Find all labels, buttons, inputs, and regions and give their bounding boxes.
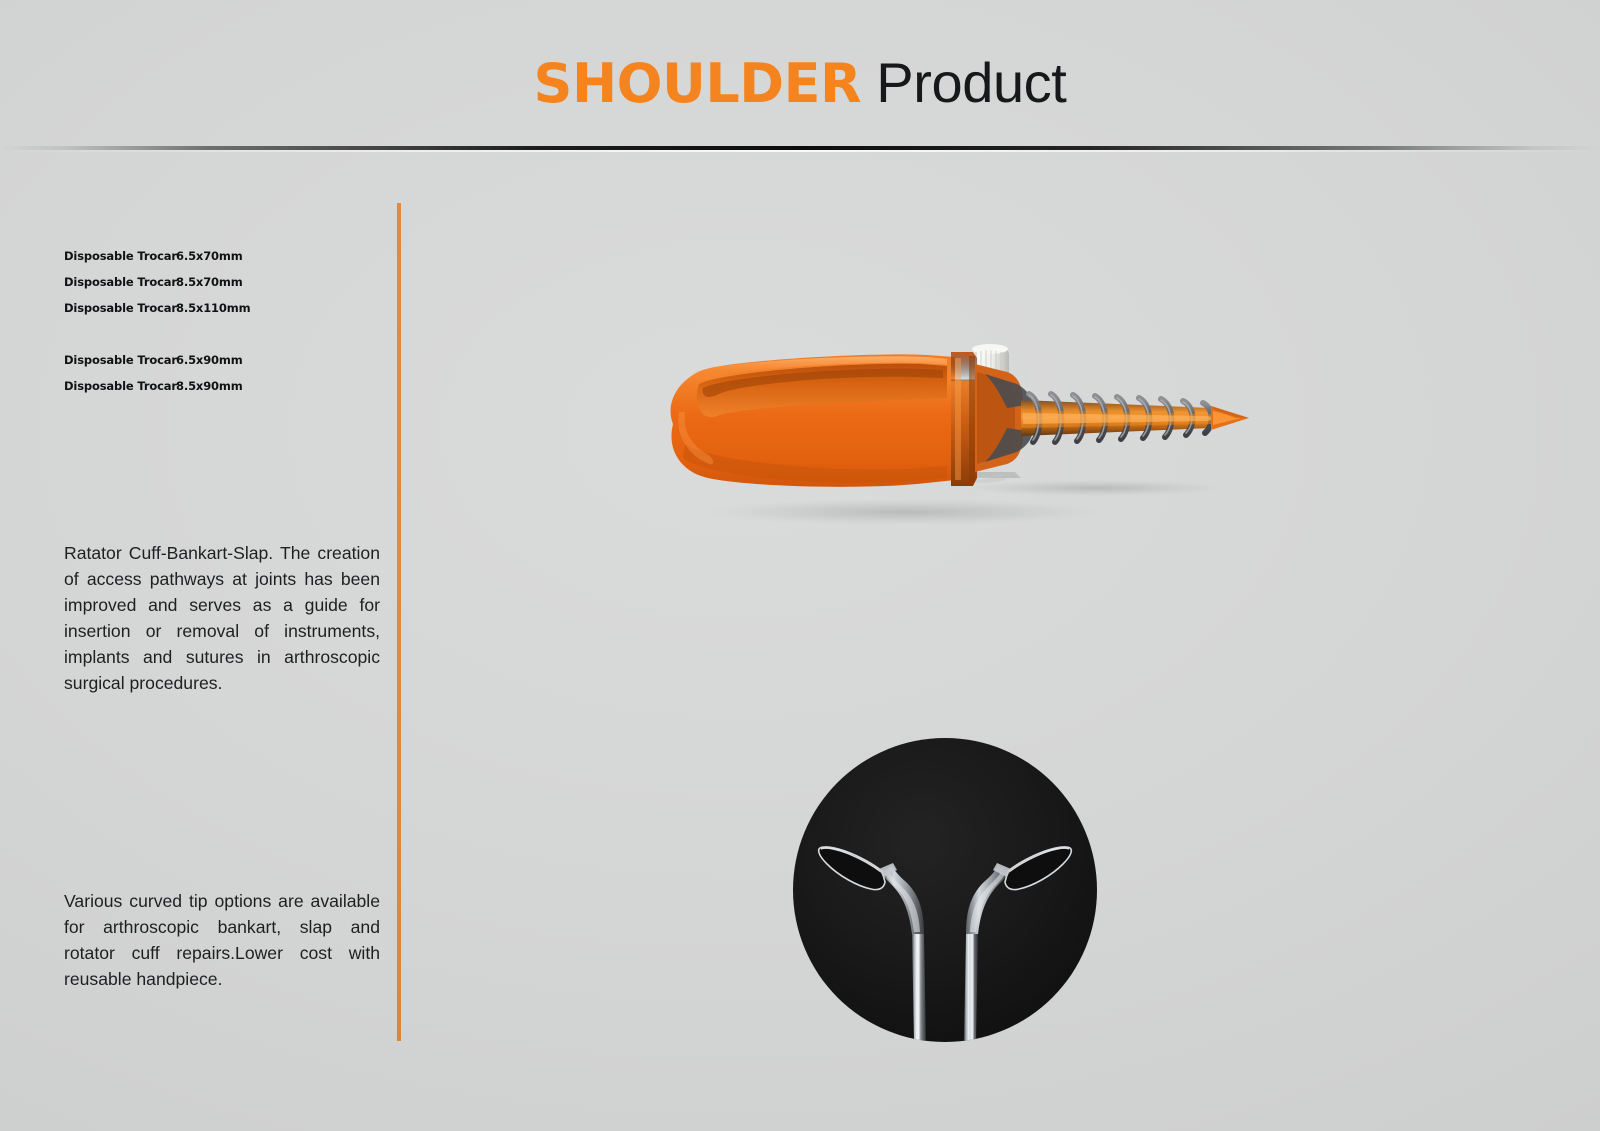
product-page: SHOULDER Product Disposable Trocar 6.5x7… [0,0,1600,1131]
spec-row: Disposable Trocar 8.5x110mm [64,301,374,327]
spec-row: Disposable Trocar 6.5x70mm [64,249,374,275]
page-title: SHOULDER Product [0,55,1600,111]
spec-group-2: Disposable Trocar 6.5x90mm Disposable Tr… [64,353,374,405]
description-paragraph-one: Ratator Cuff-Bankart-Slap. The creation … [64,540,380,696]
disposable-trocar-photo [655,312,1255,527]
spec-product-size: 6.5x70mm [176,249,243,263]
spec-row: Disposable Trocar 6.5x90mm [64,353,374,379]
spec-row: Disposable Trocar 8.5x90mm [64,379,374,405]
spec-product-size: 8.5x110mm [176,301,250,315]
spec-row: Disposable Trocar 8.5x70mm [64,275,374,301]
header-divider [0,145,1600,152]
spec-product-name: Disposable Trocar [64,249,176,263]
page-title-accent: SHOULDER [534,52,862,115]
spec-product-size: 8.5x70mm [176,275,243,289]
left-suture-passer [819,847,926,1042]
specification-list: Disposable Trocar 6.5x70mm Disposable Tr… [64,249,374,405]
orange-vertical-divider [397,203,401,1041]
spec-product-name: Disposable Trocar [64,301,176,315]
spec-product-name: Disposable Trocar [64,353,176,367]
spec-product-size: 6.5x90mm [176,353,243,367]
spec-product-name: Disposable Trocar [64,275,176,289]
header-divider-highlight-line [0,150,1600,152]
description-paragraph-two: Various curved tip options are available… [64,888,380,992]
spec-product-name: Disposable Trocar [64,379,176,393]
spec-product-size: 8.5x90mm [176,379,243,393]
page-title-plain: Product [861,51,1066,114]
spec-group-1: Disposable Trocar 6.5x70mm Disposable Tr… [64,249,374,327]
right-suture-passer [964,847,1071,1042]
curved-suture-passer-tips-photo [793,738,1097,1042]
